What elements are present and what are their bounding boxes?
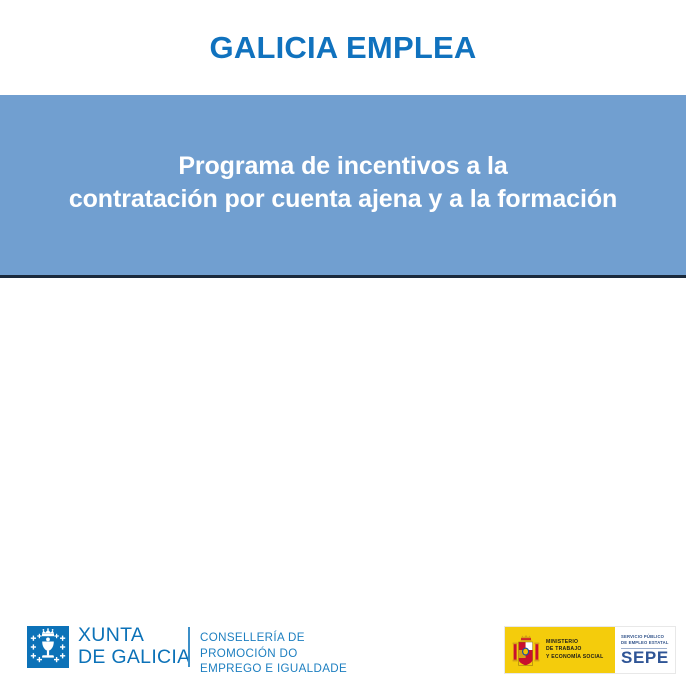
footer-logos: XUNTA DE GALICIA CONSELLERÍA DE PROMOCIÓ…	[0, 278, 686, 410]
sepe-acronym: SEPE	[621, 649, 675, 666]
xunta-name-line-1: XUNTA	[78, 625, 190, 647]
galicia-coat-of-arms-icon	[27, 626, 69, 668]
program-banner: Programa de incentivos a la contratación…	[0, 95, 686, 278]
sepe-fullname-line-2: DE EMPLEO ESTATAL	[621, 640, 675, 646]
banner-line-2: contratación por cuenta ajena y a la for…	[69, 183, 617, 216]
ministerio-block: MINISTERIO DE TRABAJO Y ECONOMÍA SOCIAL	[505, 627, 615, 673]
conselleria-line-1: CONSELLERÍA DE	[200, 630, 347, 646]
xunta-de-galicia-logo: XUNTA DE GALICIA	[27, 625, 190, 669]
logo-divider	[188, 627, 190, 667]
gobierno-sepe-logo: MINISTERIO DE TRABAJO Y ECONOMÍA SOCIAL …	[504, 626, 676, 674]
sepe-block: SERVICIO PÚBLICO DE EMPLEO ESTATAL SEPE	[615, 627, 675, 673]
ministerio-line-1: MINISTERIO	[546, 639, 603, 647]
xunta-wordmark: XUNTA DE GALICIA	[78, 625, 190, 669]
banner-line-1: Programa de incentivos a la	[69, 150, 617, 183]
ministerio-line-3: Y ECONOMÍA SOCIAL	[546, 654, 603, 662]
xunta-name-line-2: DE GALICIA	[78, 647, 190, 669]
conselleria-line-3: EMPREGO E IGUALDADE	[200, 661, 347, 677]
ministerio-text: MINISTERIO DE TRABAJO Y ECONOMÍA SOCIAL	[546, 639, 603, 662]
spain-coat-of-arms-icon	[511, 633, 541, 667]
title-area: GALICIA EMPLEA	[0, 0, 686, 95]
conselleria-text: CONSELLERÍA DE PROMOCIÓN DO EMPREGO E IG…	[200, 630, 347, 677]
page-title: GALICIA EMPLEA	[210, 30, 477, 66]
conselleria-line-2: PROMOCIÓN DO	[200, 646, 347, 662]
banner-text: Programa de incentivos a la contratación…	[55, 150, 631, 217]
sepe-fullname: SERVICIO PÚBLICO DE EMPLEO ESTATAL	[621, 634, 675, 646]
ministerio-line-2: DE TRABAJO	[546, 646, 603, 654]
